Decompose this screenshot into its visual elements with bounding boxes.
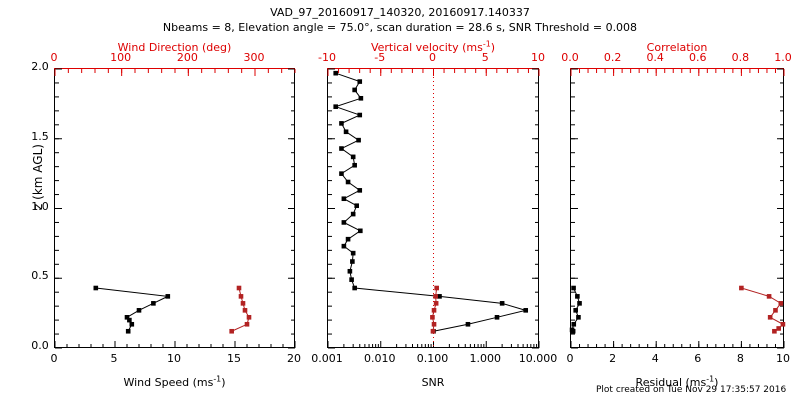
panel-wind-plot-area (55, 69, 296, 349)
series-wind-direction (230, 286, 251, 333)
panel-wind-speed-direction (54, 68, 295, 348)
top-tick-1-0: -10 (318, 51, 336, 64)
figure-subtitle: Nbeams = 8, Elevation angle = 75.0°, sca… (0, 21, 800, 34)
top-tick-0-0: 0 (51, 51, 58, 64)
bottom-tick-0-3: 15 (227, 352, 241, 365)
bottom-tick-2-2: 4 (652, 352, 659, 365)
top-tick-2-4: 0.8 (732, 51, 750, 64)
y-tick-label-1: 0.5 (31, 269, 49, 282)
top-tick-2-0: 0.0 (561, 51, 579, 64)
top-tick-0-3: 300 (244, 51, 265, 64)
bottom-tick-2-0: 0 (567, 352, 574, 365)
bottom-tick-1-4: 10.000 (519, 352, 558, 365)
y-tick-label-2: 1.0 (31, 200, 49, 213)
bottom-tick-1-2: 0.100 (417, 352, 449, 365)
series-correlation (739, 286, 785, 333)
panel-snr-plot-area (328, 69, 540, 349)
series-wind-speed (94, 286, 170, 333)
top-tick-1-2: 0 (429, 51, 436, 64)
bottom-tick-2-5: 10 (776, 352, 790, 365)
panel-residual-top-axis-title: Correlation (570, 41, 784, 54)
bottom-tick-1-1: 0.010 (364, 352, 396, 365)
series-snr (334, 71, 528, 333)
panel-snr-top-axis-exp: -1 (483, 39, 491, 48)
series-residual (570, 286, 581, 333)
panel-residual-correlation (570, 68, 784, 348)
panel-snr-bottom-axis-title: SNR (327, 376, 539, 389)
panel-snr-vertical-velocity (327, 68, 539, 348)
panel-snr-top-axis-tail: ) (491, 41, 495, 54)
bottom-tick-2-3: 6 (694, 352, 701, 365)
top-tick-0-2: 200 (177, 51, 198, 64)
panel-wind-bottom-axis-tail: ) (221, 376, 225, 389)
top-tick-1-3: 5 (482, 51, 489, 64)
bottom-tick-0-4: 20 (287, 352, 301, 365)
bottom-tick-2-4: 8 (737, 352, 744, 365)
top-tick-2-5: 1.0 (774, 51, 792, 64)
top-tick-1-1: -5 (374, 51, 385, 64)
bottom-tick-0-2: 10 (167, 352, 181, 365)
panel-wind-bottom-axis-title: Wind Speed (ms-1) (54, 376, 295, 389)
panel-wind-bottom-axis-title-text: Wind Speed (ms (123, 376, 213, 389)
panel-snr-top-axis-title-text: Vertical velocity (ms (371, 41, 483, 54)
bottom-tick-0-1: 5 (111, 352, 118, 365)
plot-created-footnote: Plot created on Tue Nov 29 17:35:57 2016 (596, 385, 786, 395)
y-tick-label-4: 2.0 (31, 60, 49, 73)
top-tick-1-4: 10 (531, 51, 545, 64)
top-tick-2-2: 0.4 (646, 51, 664, 64)
figure-title: VAD_97_20160917_140320, 20160917.140337 (0, 6, 800, 19)
bottom-tick-1-0: 0.001 (311, 352, 343, 365)
y-tick-label-0: 0.0 (31, 339, 49, 352)
top-tick-2-3: 0.6 (689, 51, 707, 64)
y-tick-label-3: 1.5 (31, 130, 49, 143)
top-tick-0-1: 100 (110, 51, 131, 64)
panel-residual-bottom-axis-exp: -1 (706, 374, 714, 383)
panel-residual-plot-area (571, 69, 785, 349)
bottom-tick-2-1: 2 (609, 352, 616, 365)
bottom-tick-0-0: 0 (51, 352, 58, 365)
series-vertical-velocity (430, 286, 438, 333)
figure-root: VAD_97_20160917_140320, 20160917.140337 … (0, 0, 800, 400)
top-tick-2-1: 0.2 (604, 51, 622, 64)
bottom-tick-1-3: 1.000 (470, 352, 502, 365)
